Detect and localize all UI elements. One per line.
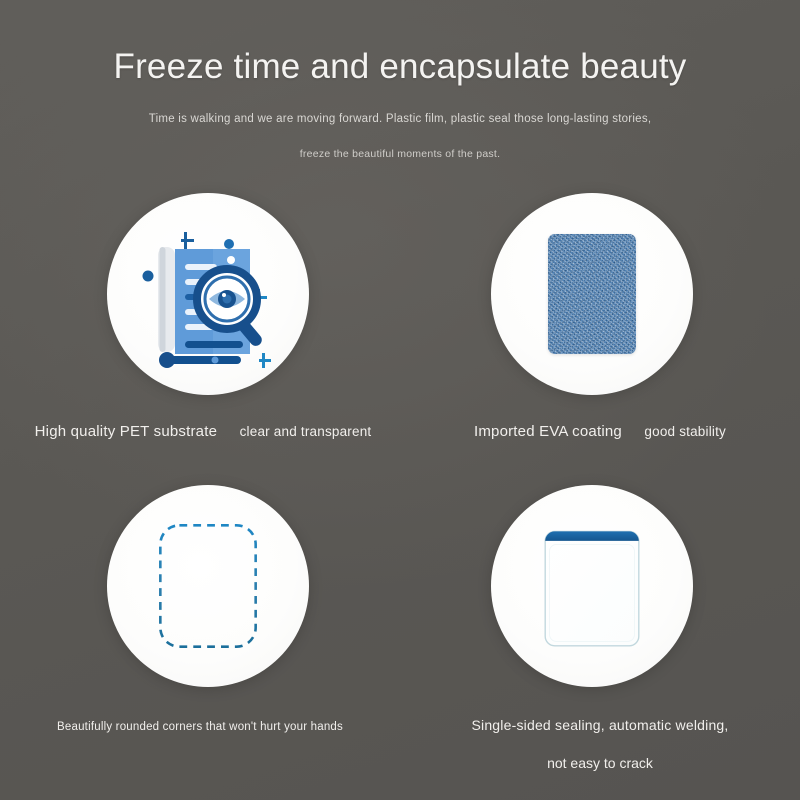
feature-caption: Single-sided sealing, automatic welding,… [400,717,800,771]
feature-caption: Beautifully rounded corners that won't h… [0,717,400,735]
document-magnifier-icon [123,209,293,379]
banner-stage: Freeze time and encapsulate beauty Time … [0,0,800,800]
textured-blue-card-icon [548,234,636,354]
feature-icon-circle [491,193,693,395]
feature-caption-main: Single-sided sealing, automatic welding, [471,717,728,733]
feature-grid: High quality PET substrate clear and tra… [0,185,800,769]
feature-caption: High quality PET substrate clear and tra… [0,423,400,441]
feature-row-top: High quality PET substrate clear and tra… [0,185,800,477]
feature-caption-sub: good stability [644,424,726,439]
feature-card-rounded-corners[interactable]: Beautifully rounded corners that won't h… [0,477,400,769]
feature-caption: Imported EVA coating good stability [400,423,800,441]
feature-icon-circle [107,485,309,687]
feature-caption-sub: not easy to crack [400,755,800,771]
page-title: Freeze time and encapsulate beauty [0,48,800,87]
feature-icon-circle [491,485,693,687]
header: Freeze time and encapsulate beauty Time … [0,0,800,160]
sealed-edge-card-icon [540,521,644,651]
texture-layer-2 [548,234,636,354]
feature-card-single-sided-sealing[interactable]: Single-sided sealing, automatic welding,… [400,477,800,769]
feature-caption-main: Beautifully rounded corners that won't h… [57,721,343,733]
feature-caption-main: Imported EVA coating [474,423,622,440]
feature-row-bottom: Beautifully rounded corners that won't h… [0,477,800,769]
subtitle-line-1: Time is walking and we are moving forwar… [0,113,800,125]
feature-caption-main: High quality PET substrate [35,423,218,440]
feature-icon-circle [107,193,309,395]
subtitle-line-2: freeze the beautiful moments of the past… [0,148,800,160]
feature-card-pet-substrate[interactable]: High quality PET substrate clear and tra… [0,185,400,477]
dashed-rounded-rectangle-icon [156,521,260,651]
feature-card-eva-coating[interactable]: Imported EVA coating good stability [400,185,800,477]
feature-caption-sub: clear and transparent [240,424,372,439]
